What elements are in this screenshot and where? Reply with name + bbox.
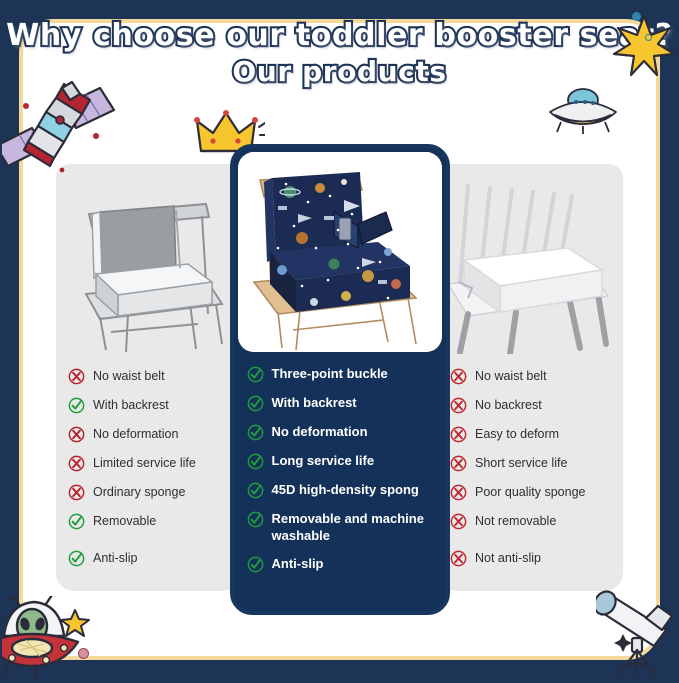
feature-item: Limited service life: [68, 455, 231, 472]
feature-item: No waist belt: [450, 368, 613, 385]
feature-label: No deformation: [272, 424, 368, 441]
cross-icon: [68, 484, 85, 501]
cross-icon: [68, 368, 85, 385]
comparison-columns: No waist beltWith backrestNo deformation…: [38, 144, 641, 627]
feature-label: Not removable: [475, 513, 556, 529]
feature-item: Poor quality sponge: [450, 484, 613, 501]
feature-item: With backrest: [68, 397, 231, 414]
check-icon: [247, 511, 264, 528]
feature-label: Easy to deform: [475, 426, 559, 442]
feature-item: No deformation: [247, 424, 436, 441]
competitor-left-image: [56, 164, 241, 354]
feature-label: Anti-slip: [93, 550, 137, 566]
feature-item: No waist belt: [68, 368, 231, 385]
feature-label: With backrest: [93, 397, 169, 413]
feature-item: Three-point buckle: [247, 366, 436, 383]
cross-icon: [450, 397, 467, 414]
cross-icon: [450, 550, 467, 567]
check-icon: [247, 395, 264, 412]
feature-label: Limited service life: [93, 455, 196, 471]
feature-label: Not anti-slip: [475, 550, 541, 566]
our-product-image: [238, 152, 442, 352]
feature-item: Removable and machine washable: [247, 511, 436, 544]
cross-icon: [450, 484, 467, 501]
feature-item: Ordinary sponge: [68, 484, 231, 501]
check-icon: [247, 366, 264, 383]
feature-item: Long service life: [247, 453, 436, 470]
feature-label: Removable and machine washable: [272, 511, 436, 544]
competitor-right-image: [438, 164, 623, 354]
feature-label: With backrest: [272, 395, 357, 412]
check-icon: [68, 550, 85, 567]
feature-item: Not anti-slip: [450, 550, 613, 567]
feature-label: No waist belt: [475, 368, 547, 384]
cross-icon: [68, 455, 85, 472]
check-icon: [68, 397, 85, 414]
feature-label: Poor quality sponge: [475, 484, 586, 500]
feature-item: Easy to deform: [450, 426, 613, 443]
poster-root: Why choose our toddler booster seat? Our…: [0, 0, 679, 679]
feature-label: Removable: [93, 513, 156, 529]
check-icon: [247, 482, 264, 499]
our-product-card[interactable]: Three-point buckleWith backrestNo deform…: [230, 144, 450, 615]
feature-label: Long service life: [272, 453, 375, 470]
competitor-right-card: No waist beltNo backrestEasy to deformSh…: [438, 164, 623, 591]
cross-icon: [450, 426, 467, 443]
our-product-feature-list: Three-point buckleWith backrestNo deform…: [234, 356, 446, 573]
feature-item: Not removable: [450, 513, 613, 530]
check-icon: [68, 513, 85, 530]
feature-label: No deformation: [93, 426, 178, 442]
feature-label: Anti-slip: [272, 556, 324, 573]
feature-item: Removable: [68, 513, 231, 530]
feature-label: No waist belt: [93, 368, 165, 384]
cross-icon: [450, 513, 467, 530]
feature-label: Three-point buckle: [272, 366, 388, 383]
feature-item: Anti-slip: [68, 550, 231, 567]
feature-item: With backrest: [247, 395, 436, 412]
check-icon: [247, 556, 264, 573]
feature-label: No backrest: [475, 397, 542, 413]
feature-item: Anti-slip: [247, 556, 436, 573]
feature-item: No backrest: [450, 397, 613, 414]
check-icon: [247, 424, 264, 441]
feature-item: No deformation: [68, 426, 231, 443]
feature-item: 45D high-density spong: [247, 482, 436, 499]
cross-icon: [68, 426, 85, 443]
feature-label: 45D high-density spong: [272, 482, 419, 499]
competitor-left-card: No waist beltWith backrestNo deformation…: [56, 164, 241, 591]
feature-label: Ordinary sponge: [93, 484, 185, 500]
feature-label: Short service life: [475, 455, 567, 471]
competitor-left-feature-list: No waist beltWith backrestNo deformation…: [56, 354, 241, 567]
cross-icon: [450, 368, 467, 385]
competitor-right-feature-list: No waist beltNo backrestEasy to deformSh…: [438, 354, 623, 567]
check-icon: [247, 453, 264, 470]
feature-item: Short service life: [450, 455, 613, 472]
cross-icon: [450, 455, 467, 472]
